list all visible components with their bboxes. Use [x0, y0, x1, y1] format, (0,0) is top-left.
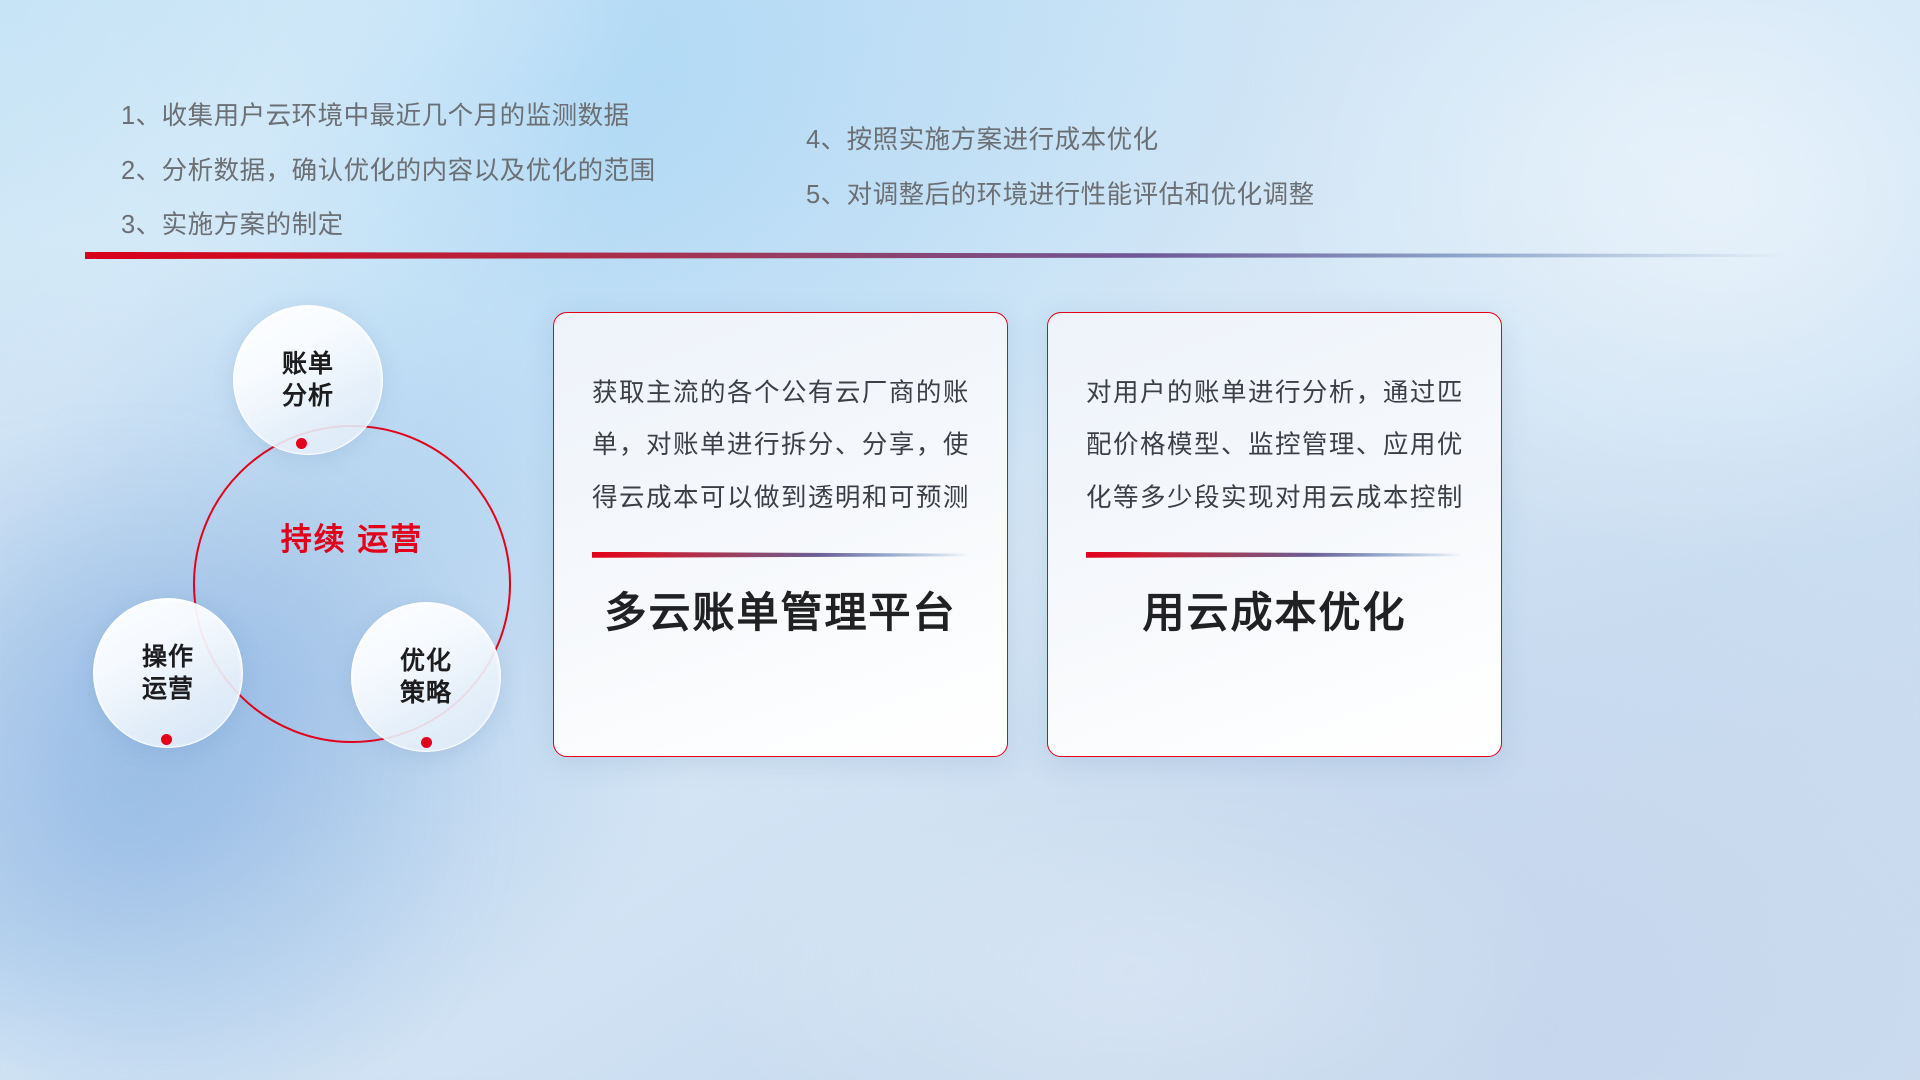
connector-dot-bottom-left-icon: [161, 734, 172, 745]
diagram-node-billing-analysis[interactable]: 账单 分析: [233, 305, 383, 455]
node-label-line-2: 分析: [282, 380, 334, 412]
card-gradient-divider: [1086, 552, 1463, 558]
node-label-line-1: 操作: [142, 641, 194, 673]
info-card-cloud-cost-optimization[interactable]: 对用户的账单进行分析，通过匹配价格模型、监控管理、应用优化等多少段实现对用云成本…: [1047, 312, 1502, 757]
node-label-line-1: 账单: [282, 348, 334, 380]
center-label-line-1: 持续: [281, 522, 347, 557]
info-card-multi-cloud-billing-platform[interactable]: 获取主流的各个公有云厂商的账单，对账单进行拆分、分享，使得云成本可以做到透明和可…: [553, 312, 1008, 757]
connector-dot-bottom-right-icon: [421, 737, 432, 748]
step-item-4: 4、按照实施方案进行成本优化: [806, 128, 1315, 154]
header-gradient-divider: [85, 252, 1785, 259]
node-label-line-2: 策略: [400, 677, 452, 709]
step-item-2: 2、分析数据，确认优化的内容以及优化的范围: [121, 159, 656, 185]
step-item-1: 1、收集用户云环境中最近几个月的监测数据: [121, 104, 656, 130]
node-label-line-2: 运营: [142, 673, 194, 705]
card-gradient-divider: [592, 552, 969, 558]
diagram-center-label: 持续 运营: [193, 520, 511, 560]
connector-dot-top-icon: [296, 438, 307, 449]
steps-list-left: 1、收集用户云环境中最近几个月的监测数据 2、分析数据，确认优化的内容以及优化的…: [121, 104, 656, 239]
diagram-node-operations[interactable]: 操作 运营: [93, 598, 243, 748]
card-title: 多云账单管理平台: [592, 588, 969, 638]
node-label-line-1: 优化: [400, 645, 452, 677]
card-title: 用云成本优化: [1086, 588, 1463, 638]
background-glow-bottom: [680, 760, 1580, 1080]
continuous-operations-diagram: 持续 运营 账单 分析 操作 运营 优化 策略: [80, 290, 550, 770]
diagram-node-optimization-strategy[interactable]: 优化 策略: [351, 602, 501, 752]
card-description: 获取主流的各个公有云厂商的账单，对账单进行拆分、分享，使得云成本可以做到透明和可…: [592, 367, 969, 524]
steps-list-right: 4、按照实施方案进行成本优化 5、对调整后的环境进行性能评估和优化调整: [806, 128, 1315, 208]
center-label-line-2: 运营: [357, 522, 423, 557]
card-description: 对用户的账单进行分析，通过匹配价格模型、监控管理、应用优化等多少段实现对用云成本…: [1086, 367, 1463, 524]
step-item-3: 3、实施方案的制定: [121, 213, 656, 239]
step-item-5: 5、对调整后的环境进行性能评估和优化调整: [806, 183, 1315, 209]
